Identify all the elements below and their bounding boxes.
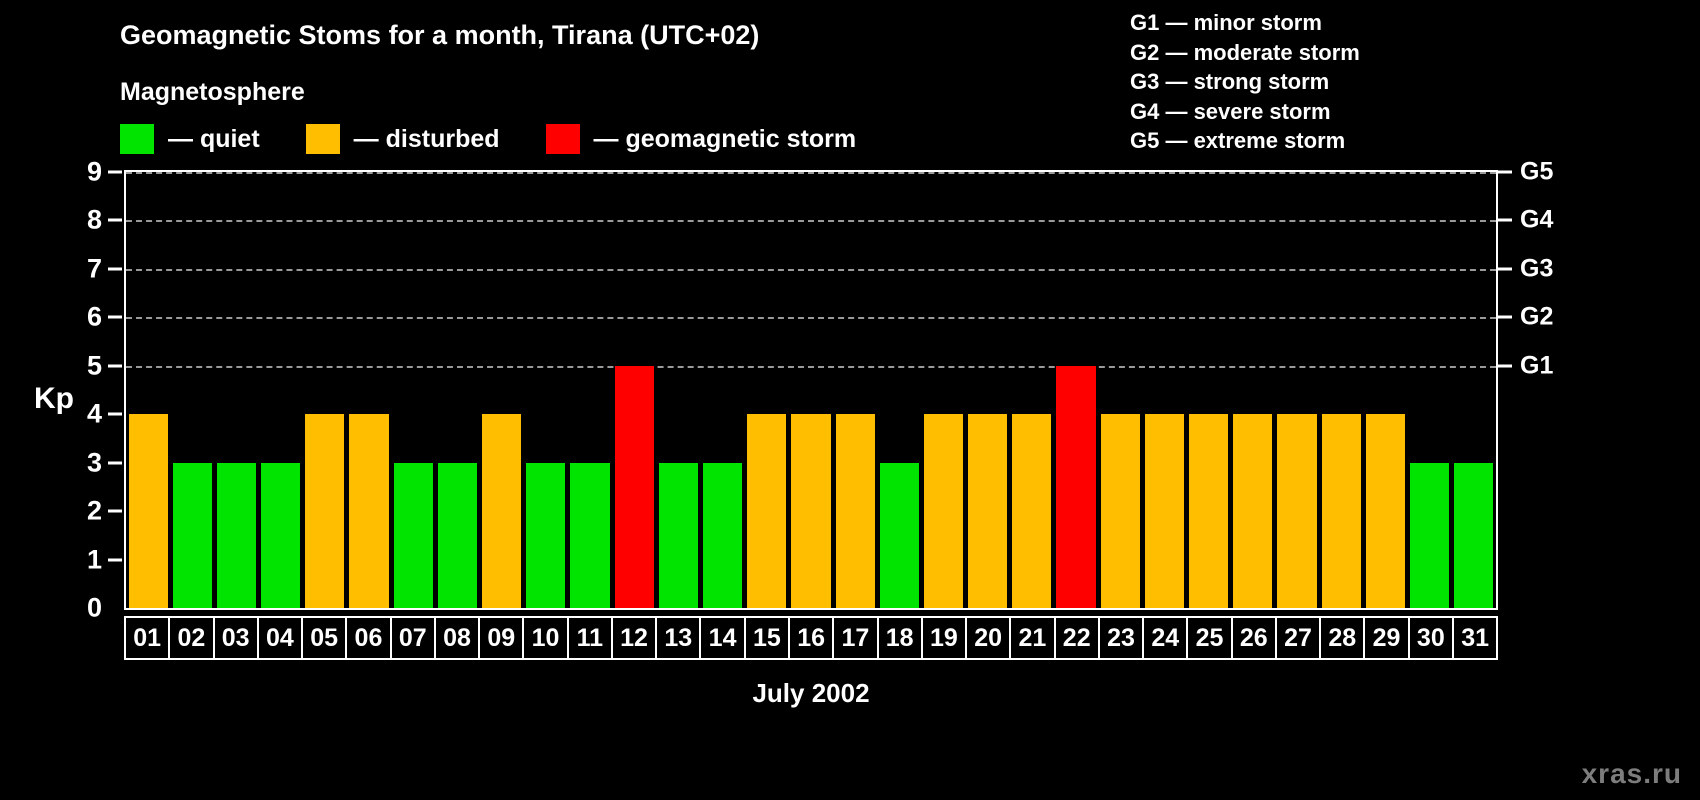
legend-label-disturbed: — disturbed bbox=[354, 125, 500, 154]
bar-day-14[interactable] bbox=[703, 463, 742, 608]
bar-slot[interactable] bbox=[1187, 172, 1231, 608]
bar-day-11[interactable] bbox=[570, 463, 609, 608]
day-label-22[interactable]: 22 bbox=[1056, 618, 1100, 658]
day-label-09[interactable]: 09 bbox=[480, 618, 524, 658]
day-label-14[interactable]: 14 bbox=[701, 618, 745, 658]
bar-slot[interactable] bbox=[921, 172, 965, 608]
x-axis-title: July 2002 bbox=[0, 678, 1622, 709]
bar-day-06[interactable] bbox=[349, 414, 388, 608]
y-tick-mark-9 bbox=[108, 171, 122, 174]
legend-swatch-quiet bbox=[120, 124, 154, 154]
bar-day-07[interactable] bbox=[394, 463, 433, 608]
bar-slot[interactable] bbox=[656, 172, 700, 608]
bar-slot[interactable] bbox=[745, 172, 789, 608]
y-tick-mark-8 bbox=[108, 219, 122, 222]
day-label-25[interactable]: 25 bbox=[1188, 618, 1232, 658]
day-label-28[interactable]: 28 bbox=[1321, 618, 1365, 658]
bar-day-21[interactable] bbox=[1012, 414, 1051, 608]
day-label-24[interactable]: 24 bbox=[1144, 618, 1188, 658]
y-tick-label-8: 8 bbox=[87, 205, 102, 236]
legend-label-quiet: — quiet bbox=[168, 125, 260, 154]
bar-day-03[interactable] bbox=[217, 463, 256, 608]
y-tick-mark-6 bbox=[108, 316, 122, 319]
bar-day-08[interactable] bbox=[438, 463, 477, 608]
gscale-line-g1: G1 — minor storm bbox=[1130, 8, 1360, 38]
y-tick-label-4: 4 bbox=[87, 399, 102, 430]
day-label-13[interactable]: 13 bbox=[657, 618, 701, 658]
bar-slot[interactable] bbox=[833, 172, 877, 608]
bar-day-09[interactable] bbox=[482, 414, 521, 608]
y-tick-label-1: 1 bbox=[87, 544, 102, 575]
bar-slot[interactable] bbox=[1098, 172, 1142, 608]
bar-day-16[interactable] bbox=[791, 414, 830, 608]
day-label-03[interactable]: 03 bbox=[215, 618, 259, 658]
bar-slot[interactable] bbox=[347, 172, 391, 608]
gscale-line-g3: G3 — strong storm bbox=[1130, 67, 1360, 97]
bar-day-12[interactable] bbox=[615, 366, 654, 608]
day-axis: 0102030405060708091011121314151617181920… bbox=[124, 616, 1498, 660]
y-tick-mark-5 bbox=[108, 364, 122, 367]
day-label-21[interactable]: 21 bbox=[1011, 618, 1055, 658]
bar-day-04[interactable] bbox=[261, 463, 300, 608]
y-tick-label-2: 2 bbox=[87, 496, 102, 527]
day-label-18[interactable]: 18 bbox=[879, 618, 923, 658]
bar-day-05[interactable] bbox=[305, 414, 344, 608]
bar-day-28[interactable] bbox=[1322, 414, 1361, 608]
y-tick-label-0: 0 bbox=[87, 593, 102, 624]
bar-slot[interactable] bbox=[1010, 172, 1054, 608]
bar-slot[interactable] bbox=[1363, 172, 1407, 608]
day-label-02[interactable]: 02 bbox=[170, 618, 214, 658]
legend-swatch-storm bbox=[546, 124, 580, 154]
bar-day-23[interactable] bbox=[1101, 414, 1140, 608]
g-tick-mark-g4 bbox=[1498, 219, 1512, 222]
y-tick-mark-4 bbox=[108, 413, 122, 416]
bar-slot[interactable] bbox=[1319, 172, 1363, 608]
day-label-01[interactable]: 01 bbox=[126, 618, 170, 658]
g-tick-label-g4: G4 bbox=[1520, 206, 1553, 235]
watermark: xras.ru bbox=[1582, 758, 1682, 790]
day-label-27[interactable]: 27 bbox=[1277, 618, 1321, 658]
day-label-04[interactable]: 04 bbox=[259, 618, 303, 658]
y-tick-mark-1 bbox=[108, 558, 122, 561]
y-tick-label-5: 5 bbox=[87, 350, 102, 381]
bar-slot[interactable] bbox=[1452, 172, 1496, 608]
bar-day-17[interactable] bbox=[836, 414, 875, 608]
y-tick-label-6: 6 bbox=[87, 302, 102, 333]
plot-inner bbox=[126, 172, 1496, 608]
g-tick-mark-g1 bbox=[1498, 364, 1512, 367]
y-tick-mark-7 bbox=[108, 267, 122, 270]
day-label-20[interactable]: 20 bbox=[967, 618, 1011, 658]
day-label-31[interactable]: 31 bbox=[1454, 618, 1496, 658]
legend-item-quiet: — quiet bbox=[120, 124, 260, 154]
bar-slot[interactable] bbox=[524, 172, 568, 608]
bar-slot[interactable] bbox=[259, 172, 303, 608]
y-tick-label-7: 7 bbox=[87, 253, 102, 284]
bar-day-01[interactable] bbox=[129, 414, 168, 608]
day-label-10[interactable]: 10 bbox=[524, 618, 568, 658]
day-label-05[interactable]: 05 bbox=[303, 618, 347, 658]
day-label-08[interactable]: 08 bbox=[436, 618, 480, 658]
bar-day-10[interactable] bbox=[526, 463, 565, 608]
bar-slot[interactable] bbox=[568, 172, 612, 608]
bar-slot[interactable] bbox=[170, 172, 214, 608]
bars-layer bbox=[126, 172, 1496, 608]
bar-day-29[interactable] bbox=[1366, 414, 1405, 608]
legend-label-storm: — geomagnetic storm bbox=[594, 125, 857, 154]
y-tick-label-9: 9 bbox=[87, 157, 102, 188]
bar-slot[interactable] bbox=[1231, 172, 1275, 608]
bar-slot[interactable] bbox=[435, 172, 479, 608]
bar-day-02[interactable] bbox=[173, 463, 212, 608]
bar-slot[interactable] bbox=[877, 172, 921, 608]
g-tick-mark-g3 bbox=[1498, 267, 1512, 270]
bar-day-15[interactable] bbox=[747, 414, 786, 608]
y-tick-mark-2 bbox=[108, 510, 122, 513]
g-tick-label-g2: G2 bbox=[1520, 303, 1553, 332]
bar-slot[interactable] bbox=[126, 172, 170, 608]
y-tick-mark-3 bbox=[108, 461, 122, 464]
legend-item-disturbed: — disturbed bbox=[306, 124, 500, 154]
bar-slot[interactable] bbox=[1142, 172, 1186, 608]
day-label-26[interactable]: 26 bbox=[1233, 618, 1277, 658]
day-label-17[interactable]: 17 bbox=[834, 618, 878, 658]
bar-slot[interactable] bbox=[1275, 172, 1319, 608]
gscale-line-g2: G2 — moderate storm bbox=[1130, 38, 1360, 68]
y-tick-label-3: 3 bbox=[87, 447, 102, 478]
bar-slot[interactable] bbox=[480, 172, 524, 608]
bar-slot[interactable] bbox=[303, 172, 347, 608]
day-label-16[interactable]: 16 bbox=[790, 618, 834, 658]
bar-day-27[interactable] bbox=[1277, 414, 1316, 608]
legend-heading: Magnetosphere bbox=[120, 78, 305, 107]
bar-slot[interactable] bbox=[789, 172, 833, 608]
bar-day-31[interactable] bbox=[1454, 463, 1493, 608]
bar-slot[interactable] bbox=[1054, 172, 1098, 608]
day-label-12[interactable]: 12 bbox=[613, 618, 657, 658]
bar-slot[interactable] bbox=[214, 172, 258, 608]
day-label-19[interactable]: 19 bbox=[923, 618, 967, 658]
bar-slot[interactable] bbox=[700, 172, 744, 608]
gscale-line-g4: G4 — severe storm bbox=[1130, 97, 1360, 127]
bar-slot[interactable] bbox=[612, 172, 656, 608]
bar-day-26[interactable] bbox=[1233, 414, 1272, 608]
bar-day-20[interactable] bbox=[968, 414, 1007, 608]
bar-day-13[interactable] bbox=[659, 463, 698, 608]
bar-day-22[interactable] bbox=[1056, 366, 1095, 608]
day-label-07[interactable]: 07 bbox=[392, 618, 436, 658]
legend-swatch-disturbed bbox=[306, 124, 340, 154]
bar-day-24[interactable] bbox=[1145, 414, 1184, 608]
bar-day-25[interactable] bbox=[1189, 414, 1228, 608]
page-title: Geomagnetic Stoms for a month, Tirana (U… bbox=[120, 20, 759, 51]
g-tick-mark-g5 bbox=[1498, 171, 1512, 174]
bar-slot[interactable] bbox=[1407, 172, 1451, 608]
day-label-29[interactable]: 29 bbox=[1365, 618, 1409, 658]
g-tick-mark-g2 bbox=[1498, 316, 1512, 319]
day-label-30[interactable]: 30 bbox=[1410, 618, 1454, 658]
day-label-23[interactable]: 23 bbox=[1100, 618, 1144, 658]
bar-day-19[interactable] bbox=[924, 414, 963, 608]
gscale-line-g5: G5 — extreme storm bbox=[1130, 126, 1360, 156]
day-label-11[interactable]: 11 bbox=[569, 618, 613, 658]
day-label-15[interactable]: 15 bbox=[746, 618, 790, 658]
g-tick-label-g3: G3 bbox=[1520, 254, 1553, 283]
legend-item-storm: — geomagnetic storm bbox=[546, 124, 857, 154]
g-axis: G1G2G3G4G5 bbox=[1498, 170, 1608, 610]
bar-day-18[interactable] bbox=[880, 463, 919, 608]
g-tick-label-g5: G5 bbox=[1520, 158, 1553, 187]
magnetosphere-legend: — quiet — disturbed — geomagnetic storm bbox=[120, 122, 902, 156]
day-label-06[interactable]: 06 bbox=[347, 618, 391, 658]
bar-slot[interactable] bbox=[966, 172, 1010, 608]
gscale-legend: G1 — minor storm G2 — moderate storm G3 … bbox=[1130, 8, 1360, 156]
plot-area bbox=[124, 170, 1498, 610]
bar-day-30[interactable] bbox=[1410, 463, 1449, 608]
bar-slot[interactable] bbox=[391, 172, 435, 608]
y-axis-title: Kp bbox=[34, 382, 74, 416]
g-tick-label-g1: G1 bbox=[1520, 351, 1553, 380]
